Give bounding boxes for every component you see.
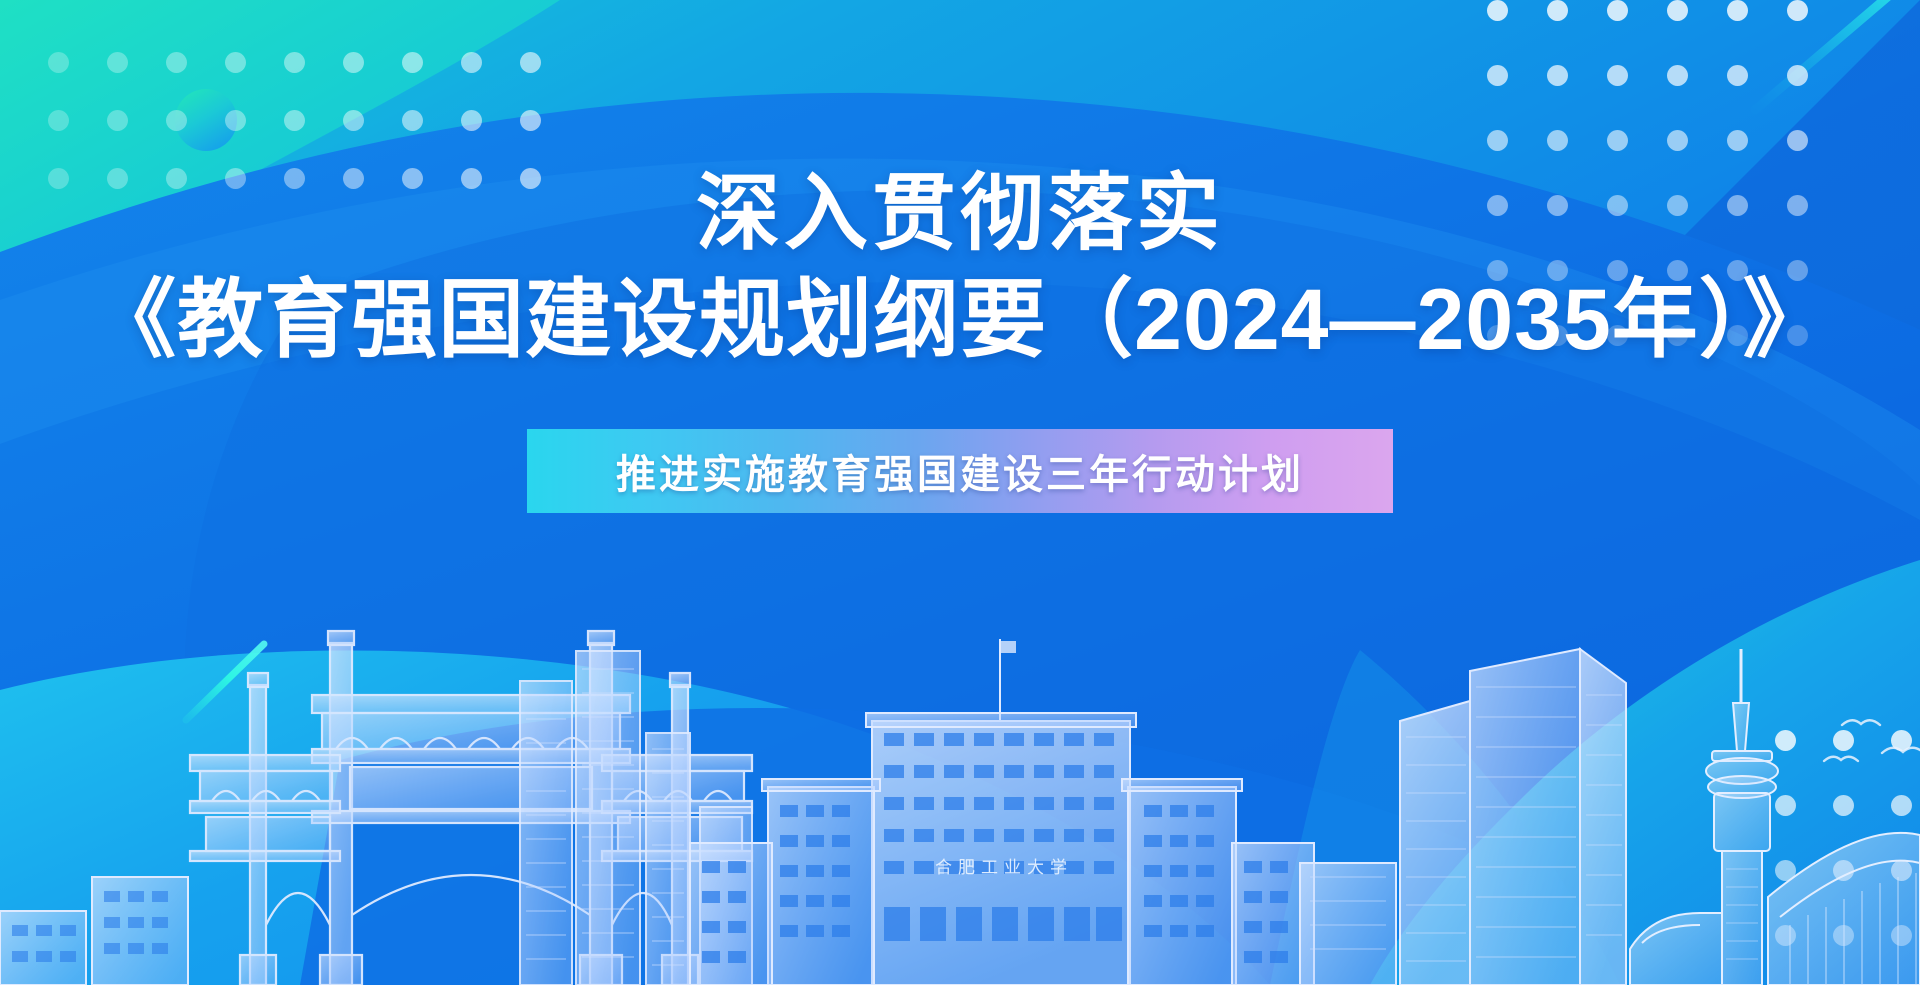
banner-content: 深入贯彻落实 《教育强国建设规划纲要（2024—2035年）》 推进实施教育强国… [0,0,1920,985]
page-title-line-2: 《教育强国建设规划纲要（2024—2035年）》 [90,273,1830,368]
banner-root: 合肥工业大学 深入贯彻落实 《教育强国建设规划纲要（2024—2035年）》 推… [0,0,1920,985]
subtitle-text: 推进实施教育强国建设三年行动计划 [616,442,1304,500]
subtitle-badge: 推进实施教育强国建设三年行动计划 [527,429,1393,513]
page-title-line-1: 深入贯彻落实 [696,168,1224,259]
